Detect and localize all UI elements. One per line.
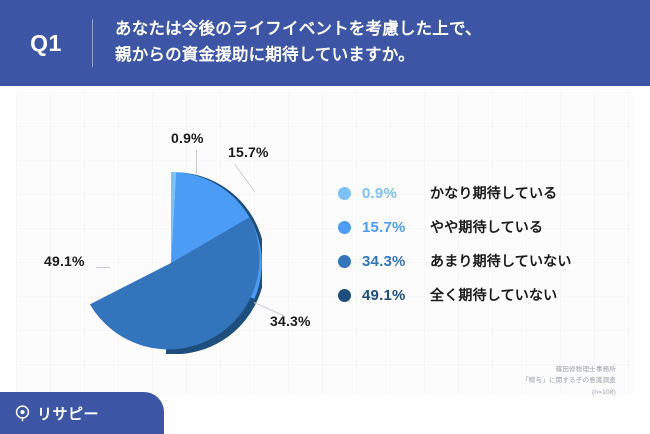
slide-root: Q1 あなたは今後のライフイベントを考慮した上で、 親からの資金援助に期待してい… [0, 0, 650, 434]
logo-text: リサピー [37, 403, 99, 424]
location-pin-icon [14, 405, 31, 422]
question-line-2: 親からの資金援助に期待していますか。 [115, 43, 482, 69]
legend-dot-yaya-kitai [338, 221, 351, 234]
pie-label-slice2: 15.7% [228, 144, 269, 160]
legend-label-zenku-kitai-shiteinai: 全く期待していない [430, 285, 557, 305]
legend-item-yaya-kitai[interactable]: 15.7% やや期待している [338, 212, 572, 242]
question-header: Q1 あなたは今後のライフイベントを考慮した上で、 親からの資金援助に期待してい… [0, 0, 650, 86]
question-title: あなたは今後のライフイベントを考慮した上で、 親からの資金援助に期待していますか… [93, 17, 482, 68]
question-line-1: あなたは今後のライフイベントを考慮した上で、 [115, 17, 482, 43]
legend-item-kanari-kitai[interactable]: 0.9% かなり期待している [338, 178, 572, 208]
pie-label-slice4: 49.1% [44, 253, 85, 269]
source-line-1: 篠田修税理士事務所 [522, 364, 616, 375]
legend-pct-kanari-kitai: 0.9% [362, 185, 430, 202]
source-line-2: 「贈与」に関する子の意識調査 [522, 375, 616, 386]
legend-dot-amari-kitai-shiteinai [338, 255, 351, 268]
legend-dot-zenku-kitai-shiteinai [338, 289, 351, 302]
legend-item-amari-kitai-shiteinai[interactable]: 34.3% あまり期待していない [338, 246, 572, 276]
legend-label-kanari-kitai: かなり期待している [430, 183, 557, 203]
question-number: Q1 [0, 30, 92, 57]
pie-label-slice3: 34.3% [270, 313, 311, 329]
legend-pct-amari-kitai-shiteinai: 34.3% [362, 253, 430, 270]
legend-pct-yaya-kitai: 15.7% [362, 219, 430, 236]
chart-panel: 0.9% 15.7% 34.3% 49.1% 0.9% かなり期待している 15… [16, 92, 634, 394]
pie-chart-svg [80, 172, 262, 354]
legend-item-zenku-kitai-shiteinai[interactable]: 49.1% 全く期待していない [338, 280, 572, 310]
legend-pct-zenku-kitai-shiteinai: 49.1% [362, 287, 430, 304]
footer-logo[interactable]: リサピー [0, 392, 164, 434]
pie-label-slice1: 0.9% [171, 130, 204, 146]
leader-line-slice4 [96, 267, 110, 268]
chart-legend: 0.9% かなり期待している 15.7% やや期待している 34.3% あまり期… [338, 178, 572, 314]
legend-dot-kanari-kitai [338, 187, 351, 200]
legend-label-amari-kitai-shiteinai: あまり期待していない [430, 251, 572, 271]
source-line-3: (n=108) [522, 387, 616, 398]
pie-chart [80, 172, 262, 354]
leader-line-slice1 [196, 150, 197, 174]
source-note: 篠田修税理士事務所 「贈与」に関する子の意識調査 (n=108) [522, 364, 616, 398]
legend-label-yaya-kitai: やや期待している [430, 217, 543, 237]
